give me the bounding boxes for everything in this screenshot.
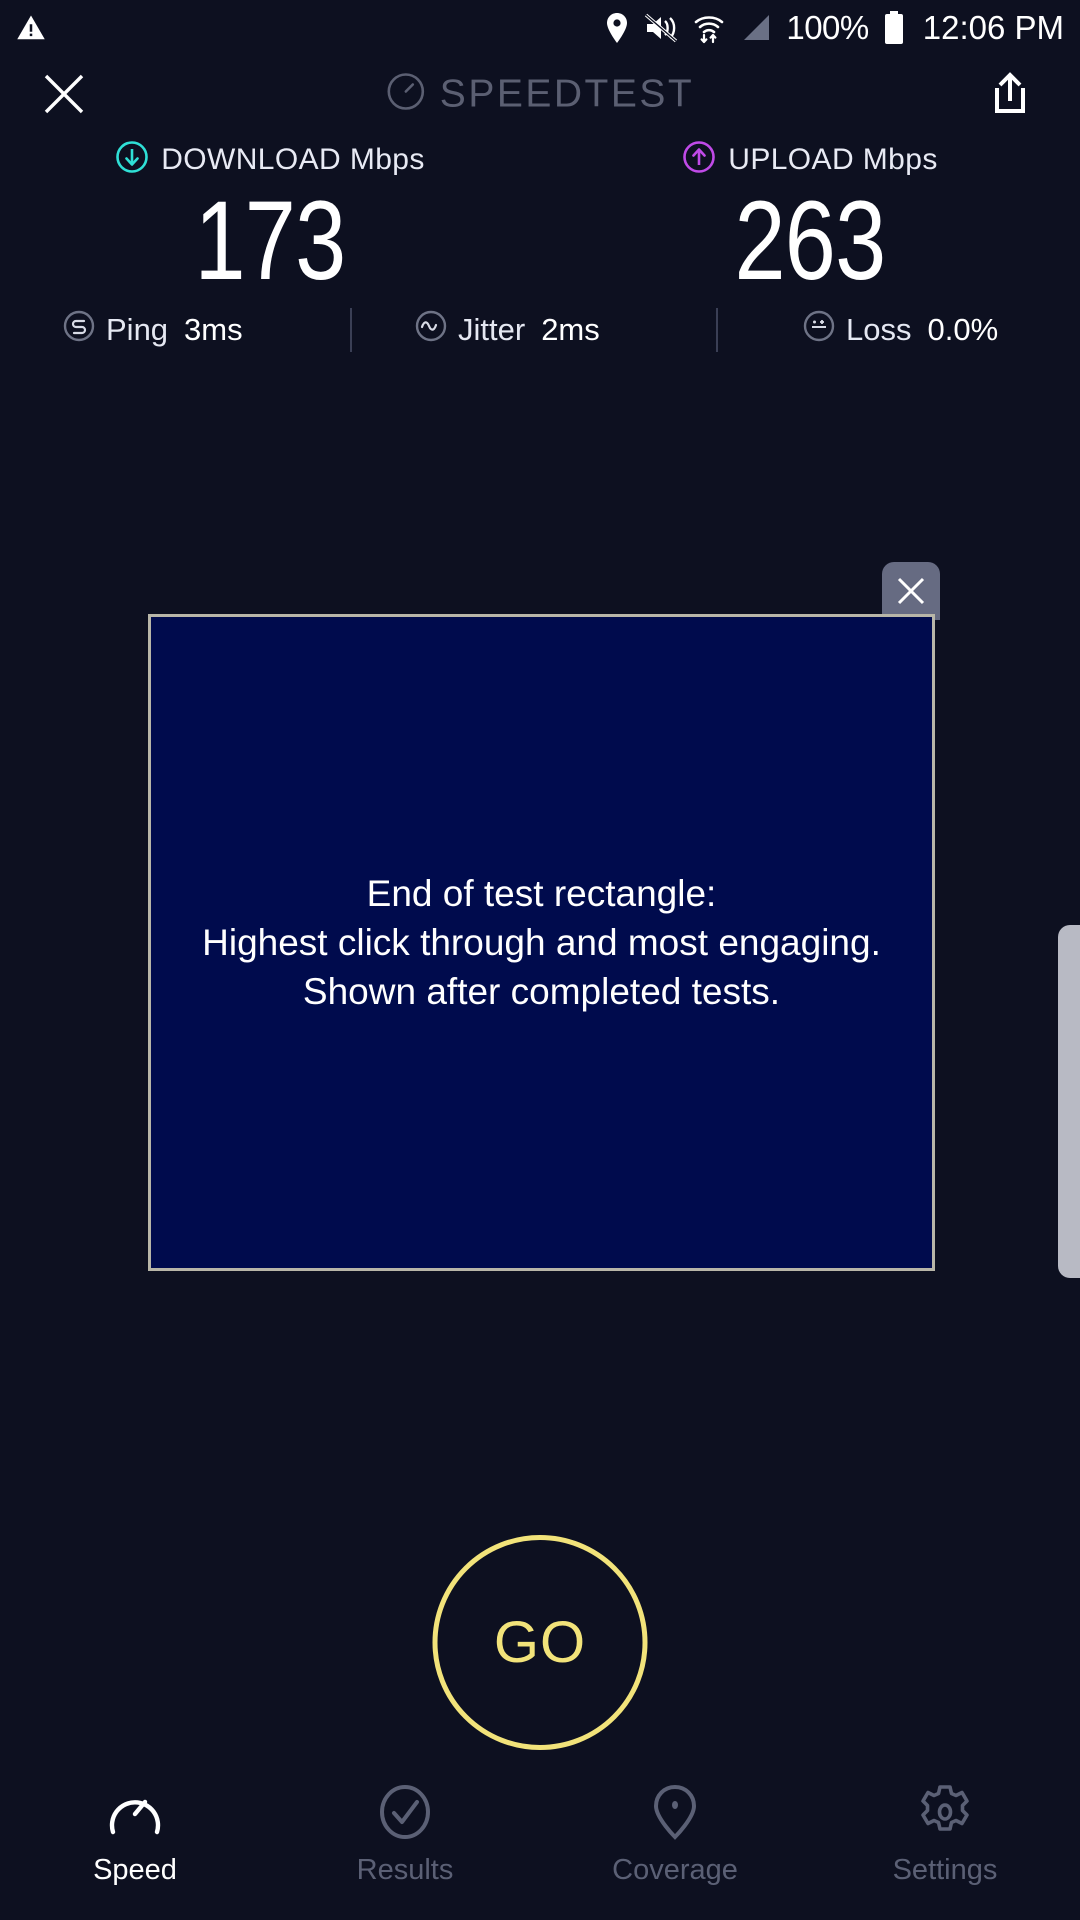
metric-ping-label: Ping [106,312,168,348]
ad-close-button[interactable] [882,562,940,620]
nav-item-speed[interactable]: Speed [0,1772,270,1920]
speedometer-icon [107,1784,163,1840]
app-title-group: SPEEDTEST [386,72,694,117]
nav-item-results[interactable]: Results [270,1772,540,1920]
upload-arrow-icon [682,140,716,179]
warning-triangle-icon [16,13,46,43]
bottom-navigation: Speed Results Coverage [0,1772,1080,1920]
map-pin-icon [652,1784,698,1840]
advertisement-banner[interactable]: End of test rectangle: Highest click thr… [148,614,935,1271]
ping-icon [62,309,96,351]
metric-jitter-label: Jitter [458,312,525,348]
metric-loss: Loss 0.0% [802,309,998,351]
nav-label-coverage: Coverage [612,1854,738,1887]
scrollbar-thumb[interactable] [1058,925,1080,1278]
location-pin-icon [604,12,630,44]
volume-muted-icon [644,13,678,43]
status-bar: 100% 12:06 PM [0,0,1080,55]
download-arrow-icon [115,140,149,179]
metric-jitter: Jitter 2ms [414,309,600,351]
share-button[interactable] [982,66,1038,122]
metric-ping: Ping 3ms [62,309,243,351]
cellular-signal-icon [740,13,772,43]
metric-jitter-value: 2ms [541,312,600,348]
app-header: SPEEDTEST [0,55,1080,133]
upload-result: UPLOAD Mbps 263 [540,140,1080,297]
upload-label: UPLOAD Mbps [728,143,938,177]
page-title: SPEEDTEST [440,72,694,116]
status-bar-left [16,13,46,43]
check-circle-icon [377,1784,433,1840]
battery-percent-label: 100% [786,9,868,47]
go-button[interactable]: GO [433,1535,648,1750]
speedometer-icon [386,72,426,117]
ad-text: End of test rectangle: Highest click thr… [202,869,881,1017]
metric-loss-label: Loss [846,312,911,348]
nav-label-results: Results [357,1854,454,1887]
download-label: DOWNLOAD Mbps [161,143,425,177]
download-label-row: DOWNLOAD Mbps [115,140,425,179]
status-bar-clock: 12:06 PM [923,9,1064,47]
metric-divider [716,308,718,352]
battery-full-icon [883,11,905,45]
upload-value: 263 [735,185,886,297]
download-value: 173 [195,185,346,297]
gear-icon [917,1784,973,1840]
nav-item-settings[interactable]: Settings [810,1772,1080,1920]
jitter-icon [414,309,448,351]
nav-label-speed: Speed [93,1854,177,1887]
connection-metrics: Ping 3ms Jitter 2ms [0,300,1080,360]
metric-divider [350,308,352,352]
close-icon [41,71,87,117]
metric-ping-value: 3ms [184,312,243,348]
upload-label-row: UPLOAD Mbps [682,140,938,179]
speedtest-app-screen: 100% 12:06 PM SPEE [0,0,1080,1920]
loss-icon [802,309,836,351]
download-result: DOWNLOAD Mbps 173 [0,140,540,297]
speed-results: DOWNLOAD Mbps 173 UPLOAD Mbps 263 [0,140,1080,297]
nav-label-settings: Settings [893,1854,998,1887]
go-button-label: GO [494,1609,586,1676]
share-icon [988,71,1032,117]
metric-loss-value: 0.0% [927,312,998,348]
close-test-button[interactable] [36,66,92,122]
close-icon [894,574,928,608]
wifi-transfer-icon [692,11,726,45]
status-bar-right: 100% 12:06 PM [604,9,1064,47]
nav-item-coverage[interactable]: Coverage [540,1772,810,1920]
